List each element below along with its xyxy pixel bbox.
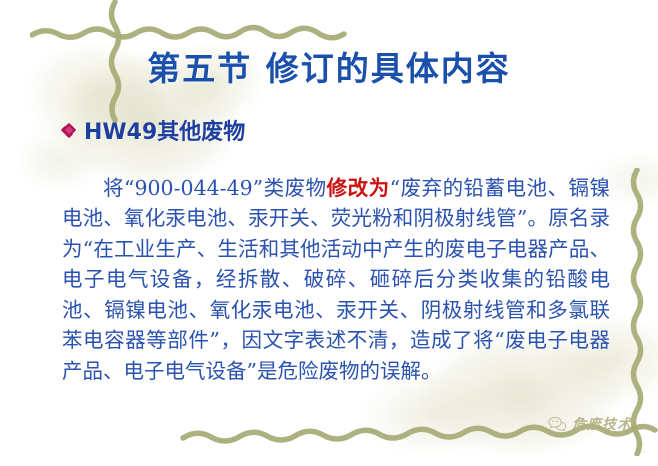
watermark: 危废技术 [548, 414, 632, 434]
slide-canvas: 第五节 修订的具体内容 HW49其他废物 将“900-044-49”类废物修改为… [0, 0, 658, 466]
body-segment-1: 将“900-044-49”类废物 [103, 176, 327, 200]
section-heading: HW49其他废物 [62, 114, 245, 146]
body-segment-2: “废弃的铅蓄电池、镉镍电池、氧化汞电池、汞开关、荧光粉和阴极射线管”。原名录为“… [62, 176, 610, 383]
section-heading-label: HW49其他废物 [84, 114, 245, 146]
body-paragraph: 将“900-044-49”类废物修改为“废弃的铅蓄电池、镉镍电池、氧化汞电池、汞… [62, 173, 610, 387]
watermark-label: 危废技术 [572, 414, 632, 434]
brush-stroke-vertical-right-icon [626, 168, 648, 456]
brush-stroke-horizontal-top-icon [30, 22, 370, 44]
body-highlight: 修改为 [327, 176, 390, 200]
slide-title: 第五节 修订的具体内容 [0, 42, 658, 90]
diamond-bullet-icon [62, 124, 75, 137]
wechat-icon [548, 416, 567, 432]
